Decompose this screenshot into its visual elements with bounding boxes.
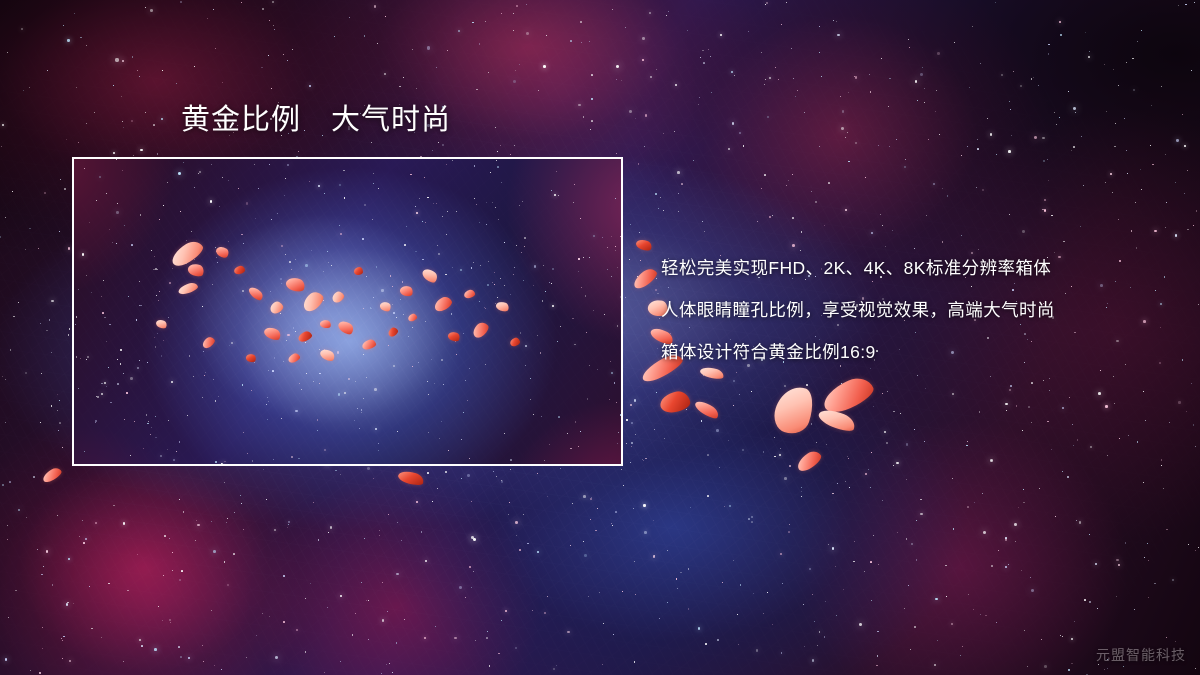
petal [635,238,653,253]
page-title: 黄金比例 大气时尚 [181,102,451,138]
description-line-1: 轻松完美实现FHD、2K、4K、8K标准分辨率箱体 [661,254,1055,296]
feature-description: 轻松完美实现FHD、2K、4K、8K标准分辨率箱体 人体眼睛瞳孔比例，享受视觉效… [661,254,1055,380]
petal [693,398,721,421]
petal [631,266,660,292]
petal [658,390,691,415]
slide-root: 黄金比例 大气时尚 轻松完美实现FHD、2K、4K、8K标准分辨率箱体 人体眼睛… [0,0,1200,675]
petal [794,448,823,474]
petal [769,382,818,439]
petal [397,469,425,488]
description-line-3: 箱体设计符合黄金比例16:9 [661,338,1055,380]
petal [41,466,63,485]
watermark: 元盟智能科技 [1096,645,1186,665]
description-line-2: 人体眼睛瞳孔比例，享受视觉效果，高端大气时尚 [661,296,1055,338]
